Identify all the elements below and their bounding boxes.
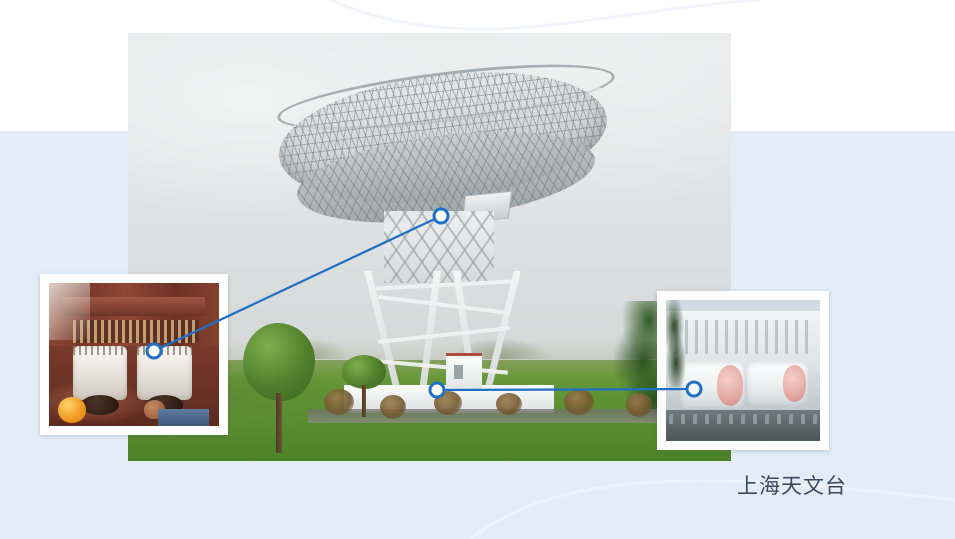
drive-motor-cylinder [73, 346, 127, 400]
worker-clothing [158, 409, 209, 426]
highlight-overlay [49, 283, 90, 340]
foreground-tree [243, 323, 315, 453]
housing-ribs [675, 320, 811, 354]
tower-brace [380, 359, 508, 374]
anchor-bolts [669, 414, 817, 424]
tree-trunk [362, 385, 366, 417]
shrub [380, 395, 406, 419]
support-tower [374, 269, 514, 399]
antenna-dish [278, 75, 608, 215]
drive-motor-cylinder [137, 346, 191, 400]
shrub [434, 391, 462, 415]
pink-end-cap [717, 365, 743, 406]
tree-crown [243, 323, 315, 401]
shrub [324, 389, 354, 415]
tower-brace [378, 326, 510, 344]
slide-canvas: 上海天文台 [0, 0, 955, 539]
shrub [496, 393, 522, 415]
background-foliage [666, 300, 686, 387]
inset-right-image [666, 300, 820, 441]
pink-end-cap [783, 365, 806, 402]
inset-photo-left [40, 274, 228, 435]
tower-brace [378, 295, 510, 315]
gear-rack-slots [73, 320, 199, 343]
drive-hub [81, 395, 118, 415]
service-building [446, 353, 482, 390]
tree-crown [342, 355, 386, 389]
inset-photo-right [657, 291, 829, 450]
tree-trunk [276, 393, 282, 453]
tower-brace [376, 279, 512, 290]
shrub [564, 389, 594, 415]
photo-caption: 上海天文台 [737, 470, 847, 500]
shrub [626, 393, 652, 417]
inset-left-image [49, 283, 219, 426]
